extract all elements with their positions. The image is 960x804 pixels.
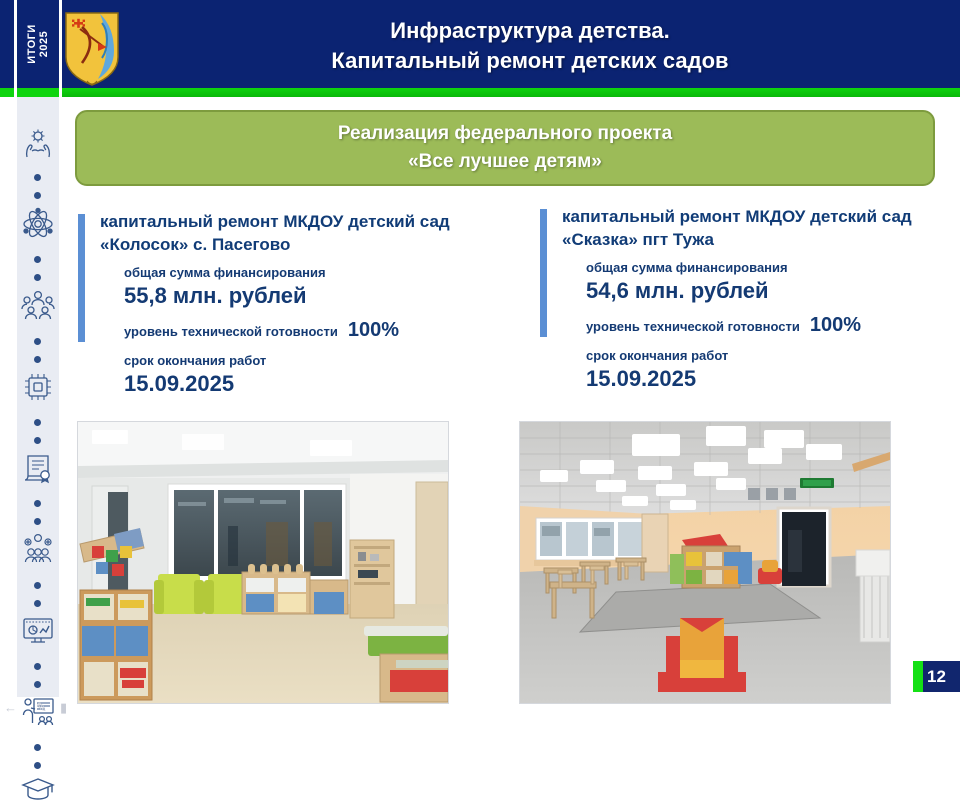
page-number: 12 bbox=[927, 667, 946, 687]
deadline-label: срок окончания работ bbox=[124, 352, 508, 370]
sidebar-item-certificate[interactable] bbox=[12, 451, 64, 485]
deadline-value: 15.09.2025 bbox=[124, 370, 508, 397]
sidebar-item-hands-gear[interactable] bbox=[12, 126, 64, 160]
info-block-skazka: капитальный ремонт МКДОУ детский сад «Ск… bbox=[540, 205, 960, 392]
sidebar-dot bbox=[34, 338, 41, 345]
info-rows: общая сумма финансирования 55,8 млн. руб… bbox=[124, 264, 508, 397]
people-group-icon bbox=[12, 288, 64, 322]
project-banner-line2: «Все лучшее детям» bbox=[338, 148, 672, 176]
sidebar-dot bbox=[34, 500, 41, 507]
sidebar-item-graduation-cap[interactable] bbox=[12, 774, 64, 804]
readiness-row: уровень технической готовности 100% bbox=[586, 312, 960, 339]
sidebar-item-monitor-chart[interactable] bbox=[12, 613, 64, 647]
sidebar-dot bbox=[34, 356, 41, 363]
funding-label: общая сумма финансирования bbox=[124, 264, 508, 282]
info-rows: общая сумма финансирования 54,6 млн. руб… bbox=[586, 259, 960, 392]
sidebar-dot bbox=[34, 518, 41, 525]
coat-of-arms-icon bbox=[64, 11, 120, 87]
monitor-chart-icon bbox=[12, 613, 64, 647]
info-accent-bar bbox=[78, 214, 85, 342]
funding-value: 54,6 млн. рублей bbox=[586, 277, 960, 304]
funding-label: общая сумма финансирования bbox=[586, 259, 960, 277]
sidebar-dot bbox=[34, 600, 41, 607]
project-banner: Реализация федерального проекта «Все луч… bbox=[75, 110, 935, 186]
photo-kindergalten-kolosok-playroom bbox=[78, 422, 448, 703]
bottom-nav: ← ✎ ▮ bbox=[0, 694, 72, 723]
sidebar-dot bbox=[34, 274, 41, 281]
page-title-line2: Капитальный ремонт детских садов bbox=[180, 46, 880, 76]
sidebar-dot bbox=[34, 437, 41, 444]
sidebar-item-people-gears[interactable] bbox=[12, 532, 64, 566]
year-tab: ИТОГИ 2025 bbox=[17, 0, 59, 88]
deadline-value: 15.09.2025 bbox=[586, 365, 960, 392]
year-tab-green-strip bbox=[17, 88, 59, 97]
sidebar-dot bbox=[34, 192, 41, 199]
sidebar-item-people-group[interactable] bbox=[12, 288, 64, 322]
people-gears-icon bbox=[12, 532, 64, 566]
info-block-kolosok: капитальный ремонт МКДОУ детский сад «Ко… bbox=[78, 210, 508, 397]
sidebar-dot bbox=[34, 582, 41, 589]
certificate-icon bbox=[12, 451, 64, 485]
readiness-label: уровень технической готовности bbox=[586, 318, 800, 336]
readiness-value: 100% bbox=[810, 312, 861, 339]
year-tab-label-itogi: ИТОГИ bbox=[26, 0, 38, 88]
sidebar-dot bbox=[34, 256, 41, 263]
project-banner-text: Реализация федерального проекта «Все луч… bbox=[338, 120, 672, 176]
next-arrow-icon[interactable]: ▮ bbox=[60, 700, 67, 716]
header-green-strip bbox=[62, 88, 960, 97]
sidebar-icon-list bbox=[12, 108, 64, 708]
sidebar-dot bbox=[34, 681, 41, 688]
funding-value: 55,8 млн. рублей bbox=[124, 282, 508, 309]
pen-icon[interactable]: ✎ bbox=[36, 700, 47, 716]
sidebar-dot bbox=[34, 663, 41, 670]
page-badge-accent bbox=[913, 661, 923, 692]
sidebar-dot bbox=[34, 174, 41, 181]
project-banner-line1: Реализация федерального проекта bbox=[338, 120, 672, 148]
atom-icon bbox=[12, 207, 64, 241]
graduation-cap-icon bbox=[12, 774, 64, 804]
prev-arrow-icon[interactable]: ← bbox=[4, 700, 17, 715]
sidebar-item-atom[interactable] bbox=[12, 207, 64, 241]
sidebar-dot bbox=[34, 419, 41, 426]
sidebar-dot bbox=[34, 762, 41, 769]
info-heading: капитальный ремонт МКДОУ детский сад «Ко… bbox=[100, 210, 508, 256]
readiness-label: уровень технической готовности bbox=[124, 323, 338, 341]
page-title: Инфраструктура детства. Капитальный ремо… bbox=[180, 16, 880, 76]
deadline-label: срок окончания работ bbox=[586, 347, 960, 365]
hands-gear-icon bbox=[12, 126, 64, 160]
readiness-row: уровень технической готовности 100% bbox=[124, 317, 508, 344]
left-edge-green-strip bbox=[0, 88, 14, 97]
info-heading: капитальный ремонт МКДОУ детский сад «Ск… bbox=[562, 205, 960, 251]
info-accent-bar bbox=[540, 209, 547, 337]
sidebar-item-microchip[interactable] bbox=[12, 370, 64, 404]
microchip-icon bbox=[12, 370, 64, 404]
page-title-line1: Инфраструктура детства. bbox=[180, 16, 880, 46]
photo-kindergarten-skazka-hall bbox=[520, 422, 890, 703]
readiness-value: 100% bbox=[348, 317, 399, 344]
year-tab-label-2025: 2025 bbox=[38, 0, 50, 88]
sidebar-dot bbox=[34, 744, 41, 751]
left-edge-strip bbox=[0, 0, 14, 88]
